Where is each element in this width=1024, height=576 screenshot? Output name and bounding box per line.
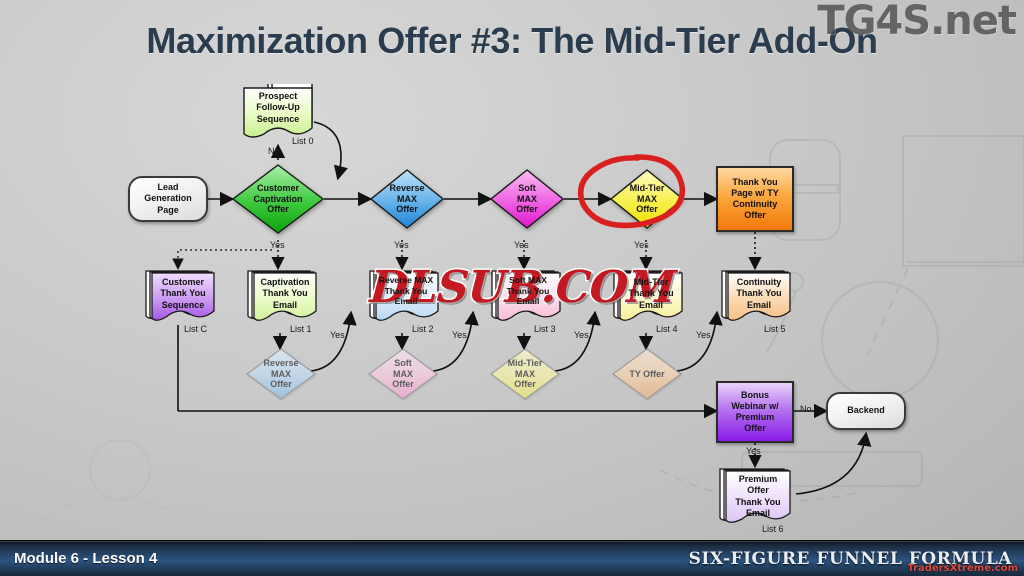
node-ghost-reverse-max-offer[interactable]: Reverse MAX Offer xyxy=(246,348,316,400)
node-bonus-webinar[interactable]: Bonus Webinar w/ Premium Offer xyxy=(716,381,794,443)
diamond-shape xyxy=(232,164,324,234)
node-continuity-thank-you-email[interactable]: Continuity Thank You Email xyxy=(720,270,794,324)
node-label: Backend xyxy=(847,405,885,416)
diamond-shape xyxy=(246,348,316,400)
diamond-shape xyxy=(490,169,564,229)
list-tag-5: List 5 xyxy=(764,324,786,334)
edge-label-no-followup: No xyxy=(268,146,280,156)
node-ghost-soft-max-offer[interactable]: Soft MAX Offer xyxy=(368,348,438,400)
footer-module-lesson: Module 6 - Lesson 4 xyxy=(14,550,157,567)
node-premium-offer-thank-you-email[interactable]: Premium Offer Thank You Email xyxy=(718,468,794,526)
edge-label-yes-ghost-ty: Yes xyxy=(696,330,711,340)
edge-label-yes-reverse: Yes xyxy=(394,240,409,250)
edge-label-yes-ghost-midtier: Yes xyxy=(574,330,589,340)
node-lead-generation-page[interactable]: Lead Generation Page xyxy=(128,176,208,222)
edge-label-yes-ghost-reverse: Yes xyxy=(330,330,345,340)
node-customer-captivation-offer[interactable]: Customer Captivation Offer xyxy=(232,164,324,234)
node-ghost-mid-tier-max-offer[interactable]: Mid-Tier MAX Offer xyxy=(490,348,560,400)
watermark-center: DLSUB.COM xyxy=(368,262,676,313)
diamond-shape xyxy=(612,348,682,400)
list-tag-2: List 2 xyxy=(412,324,434,334)
diamond-shape xyxy=(610,169,684,229)
node-customer-thank-you-sequence[interactable]: Customer Thank You Sequence xyxy=(144,270,218,324)
edge-label-yes-midtier: Yes xyxy=(634,240,649,250)
node-label: Thank You Page w/ TY Continuity Offer xyxy=(731,177,779,222)
document-shape xyxy=(236,84,318,140)
document-shape xyxy=(720,270,794,324)
node-soft-max-offer[interactable]: Soft MAX Offer xyxy=(490,169,564,229)
edge-label-yes-captivation: Yes xyxy=(270,240,285,250)
node-label: Lead Generation Page xyxy=(144,182,192,216)
diamond-shape xyxy=(368,348,438,400)
document-shape xyxy=(144,270,218,324)
node-prospect-followup-sequence[interactable]: Prospect Follow-Up Sequence xyxy=(236,84,318,140)
edge-label-no-backend: No xyxy=(800,404,812,414)
document-shape xyxy=(246,270,320,324)
list-tag-customer-sequence: List C xyxy=(184,324,207,334)
watermark-bottom-right: TradersXtreme.com xyxy=(907,563,1018,574)
edge-label-yes-premium: Yes xyxy=(746,446,761,456)
edge-label-yes-ghost-soft: Yes xyxy=(452,330,467,340)
list-tag-4: List 4 xyxy=(656,324,678,334)
list-tag-6: List 6 xyxy=(762,524,784,534)
footer-bar: Module 6 - Lesson 4 SIX-FIGURE FUNNEL FO… xyxy=(0,540,1024,576)
node-label: Bonus Webinar w/ Premium Offer xyxy=(731,390,778,435)
node-backend[interactable]: Backend xyxy=(826,392,906,430)
diamond-shape xyxy=(490,348,560,400)
diamond-shape xyxy=(370,169,444,229)
document-shape xyxy=(718,468,794,526)
list-tag-prospect: List 0 xyxy=(292,136,314,146)
node-reverse-max-offer[interactable]: Reverse MAX Offer xyxy=(370,169,444,229)
node-mid-tier-max-offer[interactable]: Mid-Tier MAX Offer xyxy=(610,169,684,229)
edge-label-yes-soft: Yes xyxy=(514,240,529,250)
node-ghost-ty-offer[interactable]: TY Offer xyxy=(612,348,682,400)
list-tag-3: List 3 xyxy=(534,324,556,334)
list-tag-1: List 1 xyxy=(290,324,312,334)
node-thank-you-page[interactable]: Thank You Page w/ TY Continuity Offer xyxy=(716,166,794,232)
node-captivation-thank-you-email[interactable]: Captivation Thank You Email xyxy=(246,270,320,324)
